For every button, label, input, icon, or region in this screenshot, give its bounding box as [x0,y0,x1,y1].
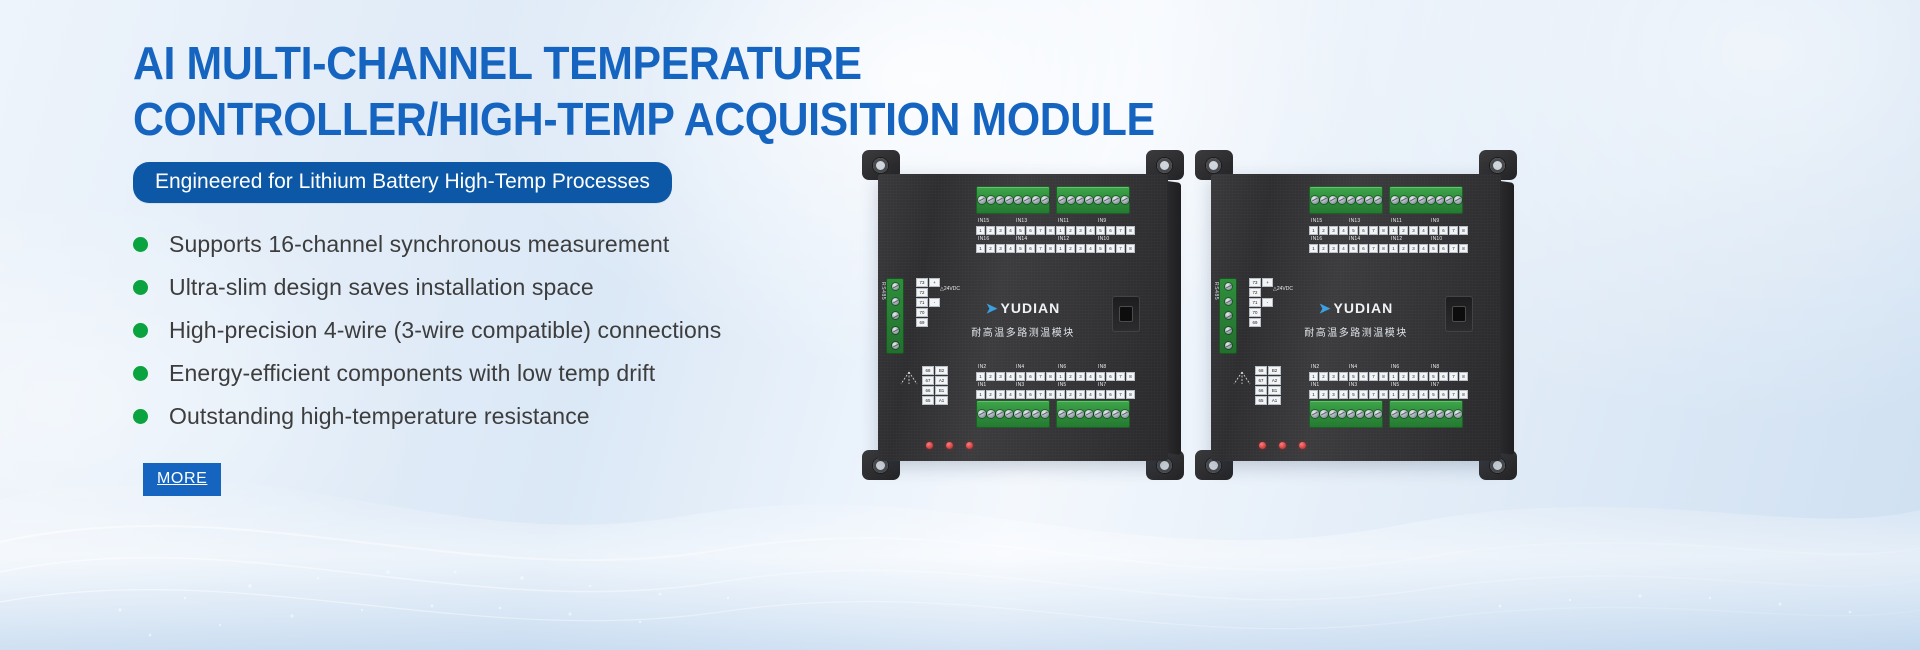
status-badge-label: Engineered for Lithium Battery High-Temp… [155,170,650,193]
comm-terminal-numbers: 68 67 66 65 [1255,366,1267,405]
channel-label: IN14 [1349,236,1360,242]
channel-label: IN10 [1098,236,1109,242]
terminal-block-top-right [1389,186,1463,214]
product-device-right: IN15 IN13 IN11 IN9 12 34 56 78 12 34 56 … [1193,150,1523,480]
screw-icon [1112,196,1120,204]
terminal-chip-row: 12 34 56 78 [1389,372,1468,381]
channel-label: IN9 [1431,218,1439,224]
screw-icon [1374,410,1382,418]
screw-icon [1014,410,1022,418]
channel-label: IN4 [1016,364,1024,370]
comm-mark: B2 [935,366,948,375]
screw-icon [978,410,986,418]
comm-mark: A2 [935,376,948,385]
channel-label: IN9 [1098,218,1106,224]
screw-icon [1436,410,1444,418]
terminal-number: 66 [922,386,934,395]
channel-label: IN4 [1349,364,1357,370]
screw-icon [1365,196,1373,204]
terminal-chip-row: 12 34 56 78 [1056,390,1135,399]
comm-terminal-marks: B2 A2 B1 A1 [1268,366,1281,405]
screw-icon [1409,196,1417,204]
screw-icon [1041,410,1049,418]
channel-label: IN8 [1098,364,1106,370]
screw-icon [978,196,986,204]
screw-icon [1320,410,1328,418]
status-led-icon [926,442,933,449]
screw-icon [1454,196,1462,204]
more-button[interactable]: MORE [143,463,221,496]
power-label: △24VDC [940,286,960,292]
polarity-mark: + [929,278,940,287]
list-item: High-precision 4-wire (3-wire compatible… [133,317,893,344]
channel-label: IN16 [978,236,989,242]
feature-text: High-precision 4-wire (3-wire compatible… [169,317,721,344]
channel-label: IN1 [978,382,986,388]
terminal-chip-row: 12 34 56 78 [1389,390,1468,399]
terminal-block-bottom-left [1309,400,1383,428]
ground-symbol-icon [1231,370,1253,386]
feature-text: Outstanding high-temperature resistance [169,403,590,430]
bullet-dot-icon [133,409,148,424]
comm-terminal-marks: B2 A2 B1 A1 [935,366,948,405]
channel-label: IN6 [1058,364,1066,370]
screw-icon [1347,410,1355,418]
screw-icon [1058,196,1066,204]
screw-icon [1225,342,1232,349]
screw-icon [1023,410,1031,418]
screw-icon [1409,410,1417,418]
screw-icon [1329,196,1337,204]
channel-label: IN13 [1349,218,1360,224]
channel-label: IN14 [1016,236,1027,242]
channel-label: IN15 [1311,218,1322,224]
screw-icon [1374,196,1382,204]
terminal-chip-row: 12 34 56 78 [1056,372,1135,381]
screw-icon [1032,410,1040,418]
feature-text: Energy-efficient components with low tem… [169,360,655,387]
screw-icon [996,196,1004,204]
terminal-chip-row: 12 34 56 78 [1309,372,1388,381]
screw-icon [1320,196,1328,204]
bullet-dot-icon [133,237,148,252]
channel-label: IN6 [1391,364,1399,370]
bullet-dot-icon [133,280,148,295]
terminal-chip-row: 12 34 56 78 [1309,244,1388,253]
screw-icon [1014,196,1022,204]
channel-label: IN11 [1391,218,1402,224]
ground-symbol-icon [898,370,920,386]
feature-list: Supports 16-channel synchronous measurem… [133,231,893,430]
screw-icon [1085,196,1093,204]
screw-icon [1391,410,1399,418]
screw-icon [1103,196,1111,204]
screw-icon [1067,196,1075,204]
screw-icon [1400,196,1408,204]
page-title: AI MULTI-CHANNEL TEMPERATURE CONTROLLER/… [133,40,840,142]
screw-icon [1121,196,1129,204]
screw-icon [1311,196,1319,204]
screw-icon [1076,196,1084,204]
status-led-icon [946,442,953,449]
feature-text: Supports 16-channel synchronous measurem… [169,231,669,258]
screw-icon [1023,196,1031,204]
channel-label: IN15 [978,218,989,224]
channel-label: IN8 [1431,364,1439,370]
terminal-chip-row: 12 34 56 78 [976,244,1055,253]
screw-icon [1356,410,1364,418]
terminal-chip-row: 12 34 56 78 [1309,226,1388,235]
status-led-icon [1279,442,1286,449]
channel-label: IN3 [1349,382,1357,388]
terminal-number: 73 [916,278,928,287]
screw-icon [1347,196,1355,204]
screw-icon [1094,410,1102,418]
usb-connector-icon [1445,296,1473,332]
list-item: Energy-efficient components with low tem… [133,360,893,387]
feature-text: Ultra-slim design saves installation spa… [169,274,594,301]
channel-label: IN2 [1311,364,1319,370]
status-led-icon [966,442,973,449]
bullet-dot-icon [133,366,148,381]
comm-terminal-numbers: 68 67 66 65 [922,366,934,405]
screw-icon [1445,196,1453,204]
channel-label: IN10 [1431,236,1442,242]
status-badge: Engineered for Lithium Battery High-Temp… [133,162,672,203]
page-title-line-1: AI MULTI-CHANNEL TEMPERATURE [133,37,862,89]
terminal-chip-row: 12 34 56 78 [1056,226,1135,235]
terminal-number: 72 [916,288,928,297]
product-hero-banner: AI MULTI-CHANNEL TEMPERATURE CONTROLLER/… [0,0,1920,650]
brand-mark-icon: ➤ [986,300,999,316]
channel-label: IN7 [1431,382,1439,388]
screw-icon [1338,196,1346,204]
channel-label: IN12 [1391,236,1402,242]
terminal-number: 65 [1255,396,1267,405]
bullet-dot-icon [133,323,148,338]
screw-icon [1356,196,1364,204]
status-led-icon [1299,442,1306,449]
terminal-chip-row: 12 34 56 78 [1389,226,1468,235]
terminal-number: 72 [1249,288,1261,297]
channel-label: IN12 [1058,236,1069,242]
comm-mark: A1 [1268,396,1281,405]
screw-icon [1225,283,1232,290]
terminal-number: 67 [922,376,934,385]
screw-icon [1103,410,1111,418]
channel-label: IN11 [1058,218,1069,224]
screw-icon [892,342,899,349]
side-port-label: RS485 [1213,282,1219,300]
list-item: Outstanding high-temperature resistance [133,403,893,430]
channel-label: IN3 [1016,382,1024,388]
terminal-number: 68 [1255,366,1267,375]
terminal-block-bottom-right [1056,400,1130,428]
screw-icon [1005,196,1013,204]
status-led-icon [1259,442,1266,449]
comm-mark: B1 [935,386,948,395]
screw-icon [1085,410,1093,418]
terminal-chip-row: 12 34 56 78 [1309,390,1388,399]
screw-icon [996,410,1004,418]
banner-copy: AI MULTI-CHANNEL TEMPERATURE CONTROLLER/… [133,40,893,496]
terminal-number: 73 [1249,278,1261,287]
screw-icon [1427,196,1435,204]
screw-icon [1400,410,1408,418]
screw-icon [1311,410,1319,418]
terminal-chip-row: 12 34 56 78 [1389,244,1468,253]
channel-label: IN16 [1311,236,1322,242]
screw-icon [1436,196,1444,204]
side-port-label: RS485 [880,282,886,300]
comm-mark: A2 [1268,376,1281,385]
chassis-side-wall [1500,181,1514,455]
device-chassis: IN15 IN13 IN11 IN9 12 34 56 78 12 34 56 … [1211,174,1501,461]
device-chassis: IN15 IN13 IN11 IN9 12 34 56 78 12 34 56 … [878,174,1168,461]
channel-label: IN7 [1098,382,1106,388]
screw-icon [1058,410,1066,418]
screw-icon [1112,410,1120,418]
terminal-block-top-right [1056,186,1130,214]
polarity-mark: + [1262,278,1273,287]
comm-mark: B1 [1268,386,1281,395]
screw-icon [1427,410,1435,418]
usb-connector-icon [1112,296,1140,332]
terminal-chip-row: 12 34 56 78 [976,226,1055,235]
terminal-block-top-left [1309,186,1383,214]
screw-icon [1329,410,1337,418]
channel-label: IN5 [1391,382,1399,388]
list-item: Ultra-slim design saves installation spa… [133,274,893,301]
screw-icon [1391,196,1399,204]
screw-icon [1032,196,1040,204]
screw-icon [1121,410,1129,418]
screw-icon [1338,410,1346,418]
product-image-group: IN15 IN13 IN11 IN9 12 34 56 78 12 34 56 … [845,150,1845,500]
screw-icon [1418,196,1426,204]
brand-mark-icon: ➤ [1319,300,1332,316]
comm-mark: A1 [935,396,948,405]
screw-icon [1418,410,1426,418]
channel-label: IN5 [1058,382,1066,388]
comm-mark: B2 [1268,366,1281,375]
page-title-line-2: CONTROLLER/HIGH-TEMP ACQUISITION MODULE [133,96,840,142]
terminal-chip-row: 12 34 56 78 [976,390,1055,399]
screw-icon [892,283,899,290]
screw-icon [1454,410,1462,418]
screw-icon [987,410,995,418]
list-item: Supports 16-channel synchronous measurem… [133,231,893,258]
terminal-block-top-left [976,186,1050,214]
screw-icon [1445,410,1453,418]
terminal-block-bottom-left [976,400,1050,428]
screw-icon [1365,410,1373,418]
terminal-number: 67 [1255,376,1267,385]
screw-icon [987,196,995,204]
terminal-number: 65 [922,396,934,405]
chassis-side-wall [1167,181,1181,455]
terminal-chip-row: 12 34 56 78 [976,372,1055,381]
terminal-number: 66 [1255,386,1267,395]
channel-label: IN1 [1311,382,1319,388]
product-device-left: IN15 IN13 IN11 IN9 12 34 56 78 12 34 56 … [860,150,1190,480]
terminal-number: 68 [922,366,934,375]
terminal-chip-row: 12 34 56 78 [1056,244,1135,253]
channel-label: IN13 [1016,218,1027,224]
screw-icon [1041,196,1049,204]
screw-icon [1076,410,1084,418]
screw-icon [1094,196,1102,204]
terminal-block-bottom-right [1389,400,1463,428]
screw-icon [1067,410,1075,418]
power-label: △24VDC [1273,286,1293,292]
screw-icon [1005,410,1013,418]
channel-label: IN2 [978,364,986,370]
